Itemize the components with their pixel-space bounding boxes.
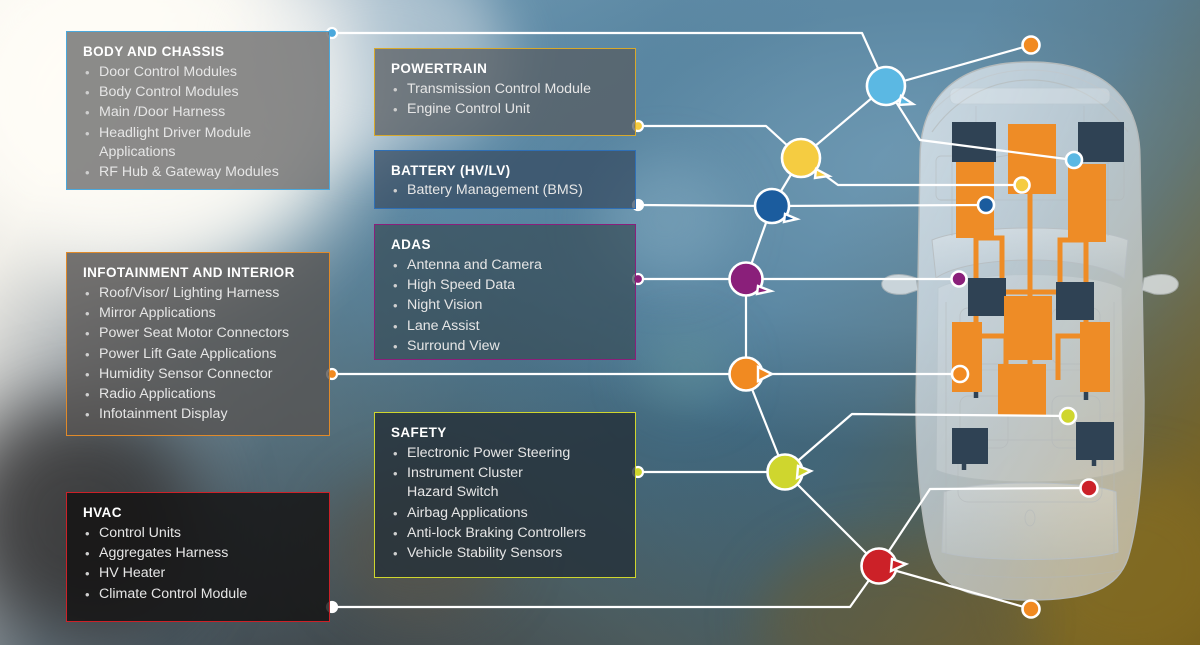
list-item-label: Vehicle Stability Sensors [407, 545, 562, 561]
list-item-label: Infotainment Display [99, 406, 228, 422]
list-item-label: Airbag Applications [407, 505, 528, 521]
hub-node-hvac [862, 549, 907, 584]
list-item: •Night Vision [391, 296, 621, 315]
panel-hvac[interactable]: HVAC •Control Units •Aggregates Harness … [66, 492, 330, 622]
panel-infotainment-and-interior[interactable]: INFOTAINMENT AND INTERIOR •Roof/Visor/ L… [66, 252, 330, 436]
bullet-icon: • [85, 63, 90, 82]
list-item-label: Battery Management (BMS) [407, 182, 583, 198]
bullet-icon: • [393, 504, 398, 523]
panel-body-and-chassis[interactable]: BODY AND CHASSIS •Door Control Modules •… [66, 31, 330, 190]
list-item-label: Headlight Driver Module [99, 125, 251, 141]
list-item: •RF Hub & Gateway Modules [83, 163, 315, 182]
list-item: •Aggregates Harness [83, 544, 315, 563]
list-item-label: Door Control Modules [99, 64, 237, 80]
list-item: •Airbag Applications [391, 504, 621, 523]
car-node-hvac [1081, 480, 1098, 497]
list-item: •Headlight Driver ModuleApplications [83, 124, 315, 162]
list-item-label: Roof/Visor/ Lighting Harness [99, 285, 279, 301]
panel-title: POWERTRAIN [391, 61, 621, 76]
bullet-icon: • [85, 405, 90, 424]
list-item-label: Transmission Control Module [407, 81, 591, 97]
list-item-label: Anti-lock Braking Controllers [407, 525, 586, 541]
diagram-canvas: BODY AND CHASSIS •Door Control Modules •… [0, 0, 1200, 645]
list-item: •Instrument ClusterHazard Switch [391, 464, 621, 502]
car-node-infotainment [952, 366, 968, 382]
list-item: •Lane Assist [391, 317, 621, 336]
panel-list: •Door Control Modules •Body Control Modu… [83, 63, 315, 182]
list-item: •High Speed Data [391, 276, 621, 295]
bullet-icon: • [85, 83, 90, 102]
list-item: •Body Control Modules [83, 83, 315, 102]
list-item: •Power Seat Motor Connectors [83, 324, 315, 343]
list-item-label: Main /Door Harness [99, 104, 225, 120]
list-item: •Power Lift Gate Applications [83, 345, 315, 364]
panel-list: •Electronic Power Steering •Instrument C… [391, 444, 621, 563]
list-item-label: Surround View [407, 338, 500, 354]
panel-battery[interactable]: BATTERY (HV/LV) •Battery Management (BMS… [374, 150, 636, 209]
list-item-label: Instrument Cluster [407, 465, 523, 481]
bullet-icon: • [85, 385, 90, 404]
list-item-label: Body Control Modules [99, 84, 239, 100]
list-item-label: Electronic Power Steering [407, 445, 570, 461]
bullet-icon: • [85, 103, 90, 122]
hub-node-body-chassis [867, 67, 913, 105]
list-item-label: Climate Control Module [99, 586, 247, 602]
bullet-icon: • [393, 80, 398, 99]
list-item: •Radio Applications [83, 385, 315, 404]
panel-powertrain[interactable]: POWERTRAIN •Transmission Control Module … [374, 48, 636, 136]
car-node-body-chassis [1066, 152, 1082, 168]
bullet-icon: • [85, 284, 90, 303]
panel-list: •Battery Management (BMS) [391, 181, 621, 200]
panel-adas[interactable]: ADAS •Antenna and Camera •High Speed Dat… [374, 224, 636, 360]
list-item: •Battery Management (BMS) [391, 181, 621, 200]
bullet-icon: • [85, 304, 90, 323]
list-item-label: Control Units [99, 525, 181, 541]
list-item: •Transmission Control Module [391, 80, 621, 99]
car-node-body-front [1023, 37, 1040, 54]
panel-title: INFOTAINMENT AND INTERIOR [83, 265, 315, 280]
list-item-label: Power Lift Gate Applications [99, 346, 276, 362]
list-item: •Surround View [391, 337, 621, 356]
list-item: •Anti-lock Braking Controllers [391, 524, 621, 543]
list-item-label: Humidity Sensor Connector [99, 366, 272, 382]
bullet-icon: • [85, 524, 90, 543]
list-item-label: Lane Assist [407, 318, 480, 334]
list-item: •Mirror Applications [83, 304, 315, 323]
panel-list: •Transmission Control Module •Engine Con… [391, 80, 621, 119]
list-item-label: Radio Applications [99, 386, 216, 402]
bullet-icon: • [85, 544, 90, 563]
car-node-rear [1023, 601, 1040, 618]
list-item-label: HV Heater [99, 565, 165, 581]
list-item: •Main /Door Harness [83, 103, 315, 122]
panel-title: SAFETY [391, 425, 621, 440]
bullet-icon: • [85, 124, 90, 143]
list-item: •Control Units [83, 524, 315, 543]
bullet-icon: • [393, 181, 398, 200]
list-item: •Electronic Power Steering [391, 444, 621, 463]
bullet-icon: • [393, 544, 398, 563]
bullet-icon: • [393, 276, 398, 295]
bullet-icon: • [85, 324, 90, 343]
list-item-label: RF Hub & Gateway Modules [99, 164, 279, 180]
list-item: •HV Heater [83, 564, 315, 583]
bullet-icon: • [393, 464, 398, 483]
bullet-icon: • [85, 163, 90, 182]
list-item: •Roof/Visor/ Lighting Harness [83, 284, 315, 303]
list-item-label: Engine Control Unit [407, 101, 530, 117]
bullet-icon: • [85, 585, 90, 604]
hub-node-safety [768, 455, 812, 490]
list-item-label: High Speed Data [407, 277, 515, 293]
list-item: •Climate Control Module [83, 585, 315, 604]
list-item: •Infotainment Display [83, 405, 315, 424]
bullet-icon: • [393, 524, 398, 543]
hub-node-infotainment [730, 358, 773, 391]
panel-title: BODY AND CHASSIS [83, 44, 315, 59]
bullet-icon: • [85, 365, 90, 384]
bullet-icon: • [393, 100, 398, 119]
list-item-label: Aggregates Harness [99, 545, 228, 561]
bullet-icon: • [393, 317, 398, 336]
list-item-label: Power Seat Motor Connectors [99, 325, 289, 341]
panel-title: ADAS [391, 237, 621, 252]
bullet-icon: • [393, 337, 398, 356]
car-node-adas [952, 272, 967, 287]
list-item: •Vehicle Stability Sensors [391, 544, 621, 563]
bullet-icon: • [393, 444, 398, 463]
panel-list: •Roof/Visor/ Lighting Harness •Mirror Ap… [83, 284, 315, 424]
car-node-safety [1060, 408, 1076, 424]
bullet-icon: • [85, 345, 90, 364]
list-item: •Engine Control Unit [391, 100, 621, 119]
panel-list: •Antenna and Camera •High Speed Data •Ni… [391, 256, 621, 356]
bullet-icon: • [393, 256, 398, 275]
car-node-powertrain [1015, 178, 1030, 193]
list-item-label-continued: Applications [99, 143, 315, 162]
panel-list: •Control Units •Aggregates Harness •HV H… [83, 524, 315, 604]
list-item-label: Antenna and Camera [407, 257, 542, 273]
list-item: •Antenna and Camera [391, 256, 621, 275]
list-item: •Door Control Modules [83, 63, 315, 82]
list-item-label-continued: Hazard Switch [407, 483, 621, 502]
list-item-label: Mirror Applications [99, 305, 216, 321]
bullet-icon: • [393, 296, 398, 315]
panel-safety[interactable]: SAFETY •Electronic Power Steering •Instr… [374, 412, 636, 578]
panel-title: HVAC [83, 505, 315, 520]
panel-title: BATTERY (HV/LV) [391, 163, 621, 178]
list-item: •Humidity Sensor Connector [83, 365, 315, 384]
hub-node-powertrain [782, 139, 829, 178]
bullet-icon: • [85, 564, 90, 583]
car-node-battery [978, 197, 994, 213]
list-item-label: Night Vision [407, 297, 482, 313]
